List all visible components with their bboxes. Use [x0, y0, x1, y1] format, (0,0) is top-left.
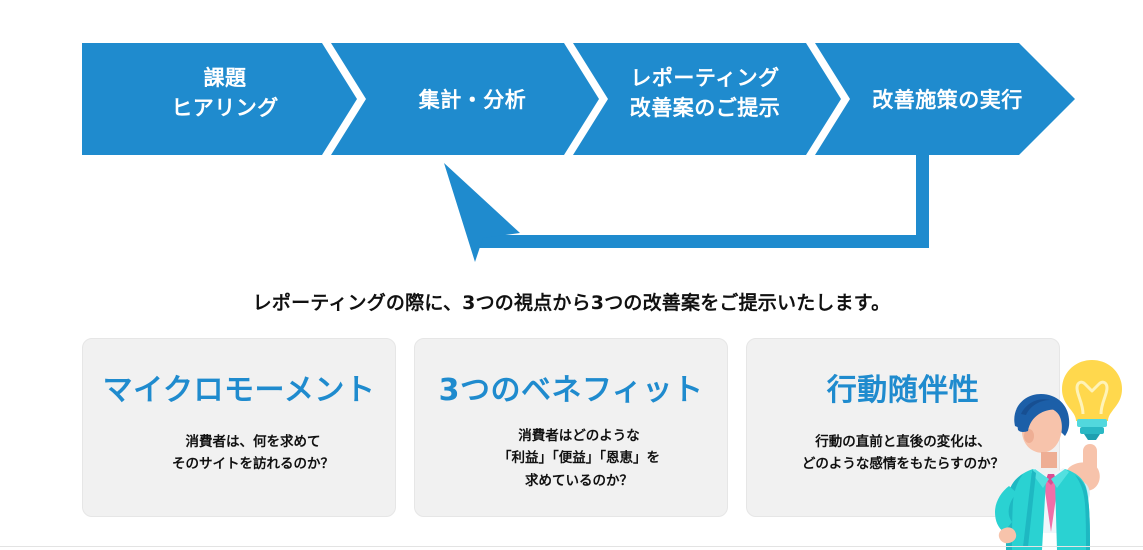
footer-divider: [0, 546, 1143, 547]
businessman-pointing-at-lightbulb-illustration: [985, 352, 1143, 550]
lightbulb-icon: [1062, 360, 1122, 440]
process-step-shape-1[interactable]: [82, 43, 357, 155]
process-step-shape-3[interactable]: [573, 43, 841, 155]
feedback-loop-vertical-line: [916, 155, 929, 248]
process-flow-diagram: 課題 ヒアリング 集計・分析 レポーティング 改善案のご提示 改善施策の実行: [0, 0, 1143, 270]
feedback-loop-horizontal-line: [478, 235, 929, 248]
section-caption: レポーティングの際に、3つの視点から3つの改善案をご提示いたします。: [0, 288, 1143, 315]
card-title: マイクロモーメント: [83, 365, 395, 409]
viewpoint-card-list: マイクロモーメント 消費者は、何を求めて そのサイトを訪れるのか？ 3つのベネフ…: [0, 338, 1143, 518]
card-body-text: 消費者はどのような 「利益」「便益」「恩恵」を 求めているのか？: [415, 425, 735, 492]
viewpoint-card-three-benefits[interactable]: 3つのベネフィット 消費者はどのような 「利益」「便益」「恩恵」を 求めているの…: [414, 338, 728, 517]
card-title: 3つのベネフィット: [415, 365, 727, 409]
viewpoint-card-micro-moment[interactable]: マイクロモーメント 消費者は、何を求めて そのサイトを訪れるのか？: [82, 338, 396, 517]
process-step-shape-4[interactable]: [815, 43, 1075, 155]
process-step-shape-2[interactable]: [331, 43, 599, 155]
slide-canvas: 課題 ヒアリング 集計・分析 レポーティング 改善案のご提示 改善施策の実行 レ…: [0, 0, 1143, 550]
card-body-text: 消費者は、何を求めて そのサイトを訪れるのか？: [83, 431, 409, 476]
